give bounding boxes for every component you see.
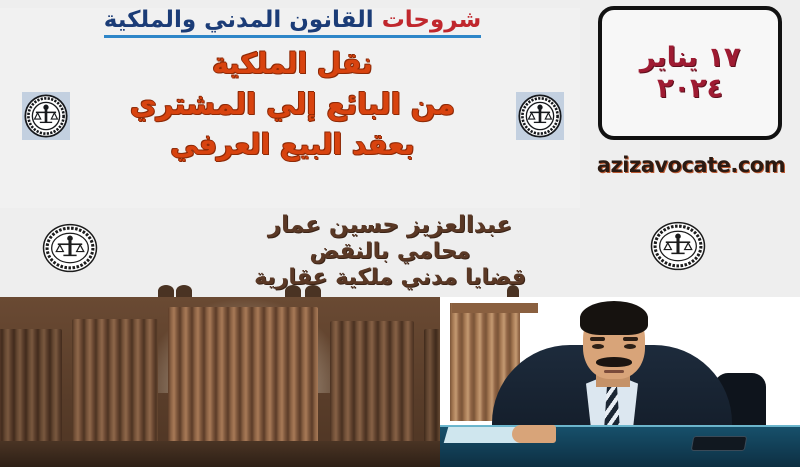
bar-association-seal-icon [650, 220, 706, 272]
decorative-finial [285, 285, 301, 297]
bar-association-seal-icon [516, 92, 564, 140]
main-title-line-2: من البائع إلي المشتري [0, 84, 585, 125]
eye [592, 344, 604, 349]
lawyer-specialty: قضايا مدني ملكية عقارية [110, 265, 670, 291]
main-title-line-1: نقل الملكية [0, 44, 585, 84]
decorative-finial [507, 285, 519, 297]
eyebrow [590, 337, 605, 341]
date-card: ١٧ يناير ٢٠٢٤ [598, 6, 782, 140]
background-column-capital [452, 303, 538, 313]
header-strip: شروحات القانون المدني والملكية [0, 2, 585, 44]
decorative-finial [305, 285, 321, 297]
eye [624, 344, 636, 349]
lawyer-role: محامي بالنقض [110, 239, 670, 265]
main-title-line-3: بعقد البيع العرفي [0, 125, 585, 165]
bar-association-seal-icon [42, 222, 98, 274]
date-year: ٢٠٢٤ [657, 73, 723, 104]
bottom-photo-band [0, 297, 800, 467]
website-strip: azizavocate.com [588, 148, 794, 182]
column [330, 321, 414, 449]
mobile-phone [691, 436, 748, 451]
hand [512, 425, 556, 443]
stone-floor [0, 441, 470, 467]
column [0, 329, 62, 449]
mouth [604, 370, 624, 373]
hair [580, 301, 648, 335]
lawyer-name-block: عبدالعزيز حسين عمار محامي بالنقض قضايا م… [110, 212, 670, 291]
lawyer-name: عبدالعزيز حسين عمار [110, 212, 670, 239]
poster-root: شروحات القانون المدني والملكية نقل الملك… [0, 0, 800, 467]
header-title-rest: القانون المدني والملكية [104, 7, 374, 33]
decorative-finial [176, 285, 192, 297]
date-day-month: ١٧ يناير [640, 42, 741, 73]
column [72, 319, 158, 449]
eyebrow [623, 337, 638, 341]
header-title-highlight: شروحات [382, 7, 482, 33]
website-url[interactable]: azizavocate.com [597, 153, 785, 177]
bar-association-seal-icon [22, 92, 70, 140]
lawyer-portrait-image [440, 297, 800, 467]
main-title-block: نقل الملكية من البائع إلي المشتري بعقد ا… [0, 44, 585, 165]
decorative-finial [158, 285, 174, 297]
header-title: شروحات القانون المدني والملكية [104, 8, 481, 38]
moustache [596, 357, 632, 367]
courthouse-columns-image [0, 297, 470, 467]
column-main [168, 307, 318, 457]
